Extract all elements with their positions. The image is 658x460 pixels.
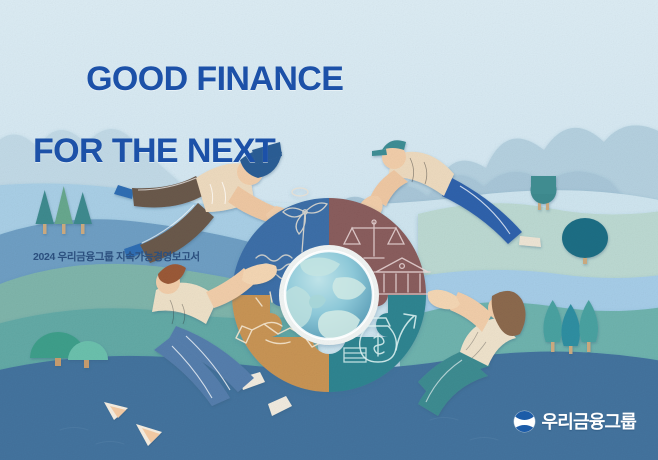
foreground-water-front [0,430,658,460]
cover-illustration [0,0,658,460]
globe-icon [279,245,379,345]
conifer-group-right [543,300,598,354]
report-cover: GOOD FINANCE FOR THE NEXT 2024 우리금융그룹 지속… [0,0,658,460]
